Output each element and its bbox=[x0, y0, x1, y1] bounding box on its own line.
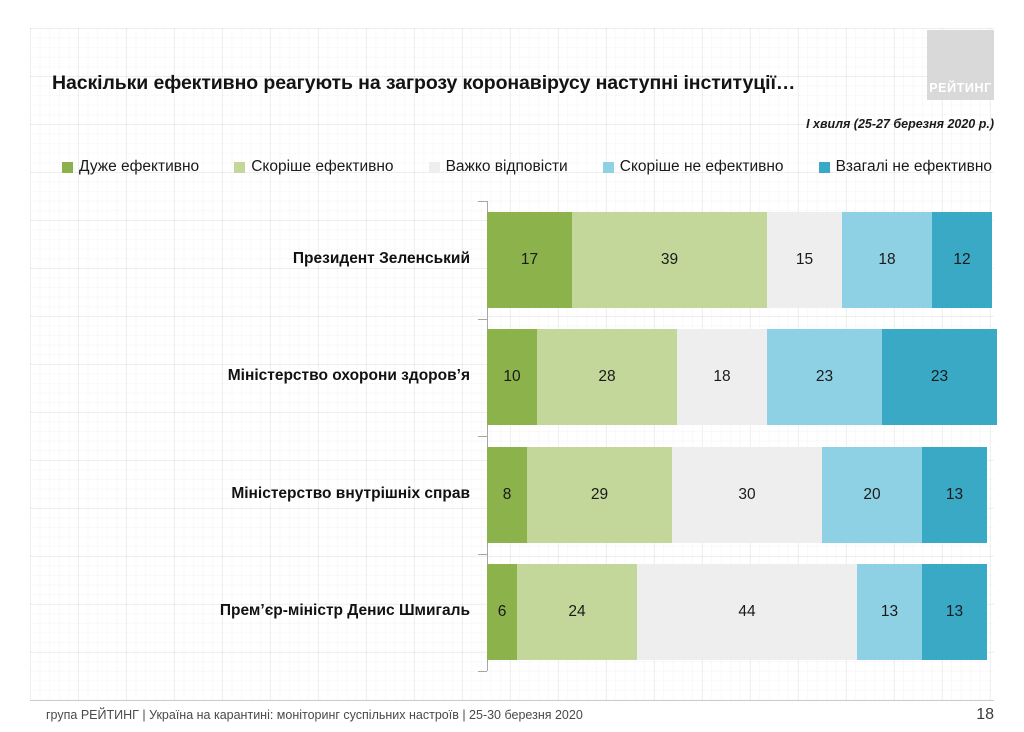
bar-segment-value: 8 bbox=[503, 486, 512, 504]
bar-segment: 20 bbox=[822, 447, 922, 543]
bar-segment-value: 10 bbox=[503, 368, 520, 386]
legend-swatch-icon bbox=[234, 162, 245, 173]
bar-segment: 10 bbox=[487, 329, 537, 425]
bar-segment: 18 bbox=[677, 329, 767, 425]
stacked-bar-row: 624441313 bbox=[487, 564, 997, 660]
bar-segment: 28 bbox=[537, 329, 677, 425]
axis-tick bbox=[478, 436, 487, 437]
bar-segment: 23 bbox=[767, 329, 882, 425]
logo-label: РЕЙТИНГ bbox=[929, 81, 992, 100]
bar-segment-value: 28 bbox=[598, 368, 615, 386]
bar-segment-value: 29 bbox=[591, 486, 608, 504]
legend-item[interactable]: Скоріше ефективно bbox=[234, 158, 393, 176]
category-label: Міністерство охорони здоров’я bbox=[140, 367, 470, 385]
legend-swatch-icon bbox=[429, 162, 440, 173]
bar-segment: 18 bbox=[842, 212, 932, 308]
legend-label: Важко відповісти bbox=[446, 158, 568, 176]
bar-segment-value: 23 bbox=[816, 368, 833, 386]
rating-group-logo: РЕЙТИНГ bbox=[927, 30, 994, 100]
bar-segment: 23 bbox=[882, 329, 997, 425]
bar-segment-value: 13 bbox=[946, 486, 963, 504]
chart-subtitle: І хвиля (25-27 березня 2020 р.) bbox=[806, 117, 994, 131]
bar-segment: 15 bbox=[767, 212, 842, 308]
bar-segment-value: 13 bbox=[881, 603, 898, 621]
legend-swatch-icon bbox=[819, 162, 830, 173]
footer-divider bbox=[30, 700, 994, 701]
page-number: 18 bbox=[976, 706, 994, 724]
bar-segment-value: 15 bbox=[796, 251, 813, 269]
bar-segment-value: 20 bbox=[863, 486, 880, 504]
plot-area: 17391518121028182323829302013624441313 bbox=[487, 201, 997, 671]
axis-tick bbox=[478, 201, 487, 202]
bar-segment-value: 12 bbox=[953, 251, 970, 269]
bar-segment: 12 bbox=[932, 212, 992, 308]
slide: РЕЙТИНГ Наскільки ефективно реагують на … bbox=[0, 0, 1024, 732]
legend-item[interactable]: Взагалі не ефективно bbox=[819, 158, 992, 176]
legend-item[interactable]: Скоріше не ефективно bbox=[603, 158, 784, 176]
footer-text: група РЕЙТИНГ | Україна на карантині: мо… bbox=[46, 708, 583, 722]
category-label: Міністерство внутрішніх справ bbox=[140, 485, 470, 503]
axis-tick bbox=[478, 319, 487, 320]
bar-segment: 24 bbox=[517, 564, 637, 660]
bar-segment-value: 6 bbox=[498, 603, 507, 621]
legend-item[interactable]: Важко відповісти bbox=[429, 158, 568, 176]
bar-segment: 6 bbox=[487, 564, 517, 660]
stacked-bar-row: 829302013 bbox=[487, 447, 997, 543]
bar-segment-value: 13 bbox=[946, 603, 963, 621]
bar-segment-value: 39 bbox=[661, 251, 678, 269]
bar-segment-value: 17 bbox=[521, 251, 538, 269]
bar-segment: 44 bbox=[637, 564, 857, 660]
bar-segment-value: 23 bbox=[931, 368, 948, 386]
category-label: Президент Зеленський bbox=[140, 250, 470, 268]
bar-segment: 39 bbox=[572, 212, 767, 308]
bar-segment: 29 bbox=[527, 447, 672, 543]
bar-segment: 30 bbox=[672, 447, 822, 543]
chart-title: Наскільки ефективно реагують на загрозу … bbox=[52, 72, 912, 95]
axis-tick bbox=[478, 671, 487, 672]
bar-segment-value: 24 bbox=[568, 603, 585, 621]
bar-segment: 13 bbox=[922, 564, 987, 660]
bar-segment-value: 30 bbox=[738, 486, 755, 504]
legend-label: Дуже ефективно bbox=[79, 158, 199, 176]
legend-label: Взагалі не ефективно bbox=[836, 158, 992, 176]
legend-swatch-icon bbox=[62, 162, 73, 173]
bar-segment-value: 18 bbox=[713, 368, 730, 386]
category-axis-labels: Президент ЗеленськийМіністерство охорони… bbox=[140, 201, 470, 671]
bar-segment: 13 bbox=[922, 447, 987, 543]
legend-label: Скоріше не ефективно bbox=[620, 158, 784, 176]
legend-swatch-icon bbox=[603, 162, 614, 173]
bar-segment: 8 bbox=[487, 447, 527, 543]
chart-legend: Дуже ефективноСкоріше ефективноВажко від… bbox=[62, 158, 992, 176]
category-label: Прем’єр-міністр Денис Шмигаль bbox=[140, 602, 470, 620]
legend-item[interactable]: Дуже ефективно bbox=[62, 158, 199, 176]
stacked-bar-row: 1739151812 bbox=[487, 212, 997, 308]
bar-segment: 17 bbox=[487, 212, 572, 308]
bar-segment-value: 18 bbox=[878, 251, 895, 269]
bar-segment-value: 44 bbox=[738, 603, 755, 621]
axis-tick bbox=[478, 554, 487, 555]
stacked-bar-row: 1028182323 bbox=[487, 329, 997, 425]
legend-label: Скоріше ефективно bbox=[251, 158, 393, 176]
bar-segment: 13 bbox=[857, 564, 922, 660]
